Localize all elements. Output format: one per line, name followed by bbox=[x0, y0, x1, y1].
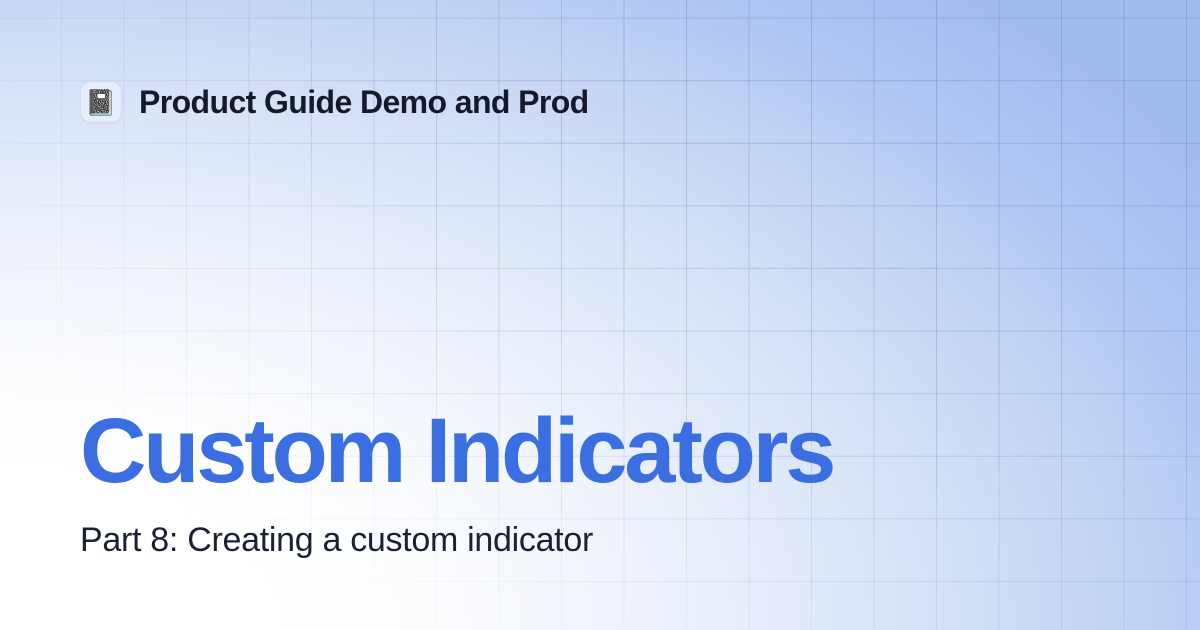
notebook-icon-badge: 📓 bbox=[80, 81, 122, 123]
card-content: 📓 Product Guide Demo and Prod Custom Ind… bbox=[0, 0, 1200, 630]
page-subtitle: Part 8: Creating a custom indicator bbox=[80, 521, 1120, 560]
brand-header: 📓 Product Guide Demo and Prod bbox=[80, 81, 589, 123]
notebook-icon: 📓 bbox=[85, 90, 116, 115]
brand-name: Product Guide Demo and Prod bbox=[139, 84, 589, 121]
title-block: Custom Indicators Part 8: Creating a cus… bbox=[80, 405, 1120, 560]
share-card: 📓 Product Guide Demo and Prod Custom Ind… bbox=[0, 0, 1200, 630]
page-title: Custom Indicators bbox=[80, 405, 1120, 497]
